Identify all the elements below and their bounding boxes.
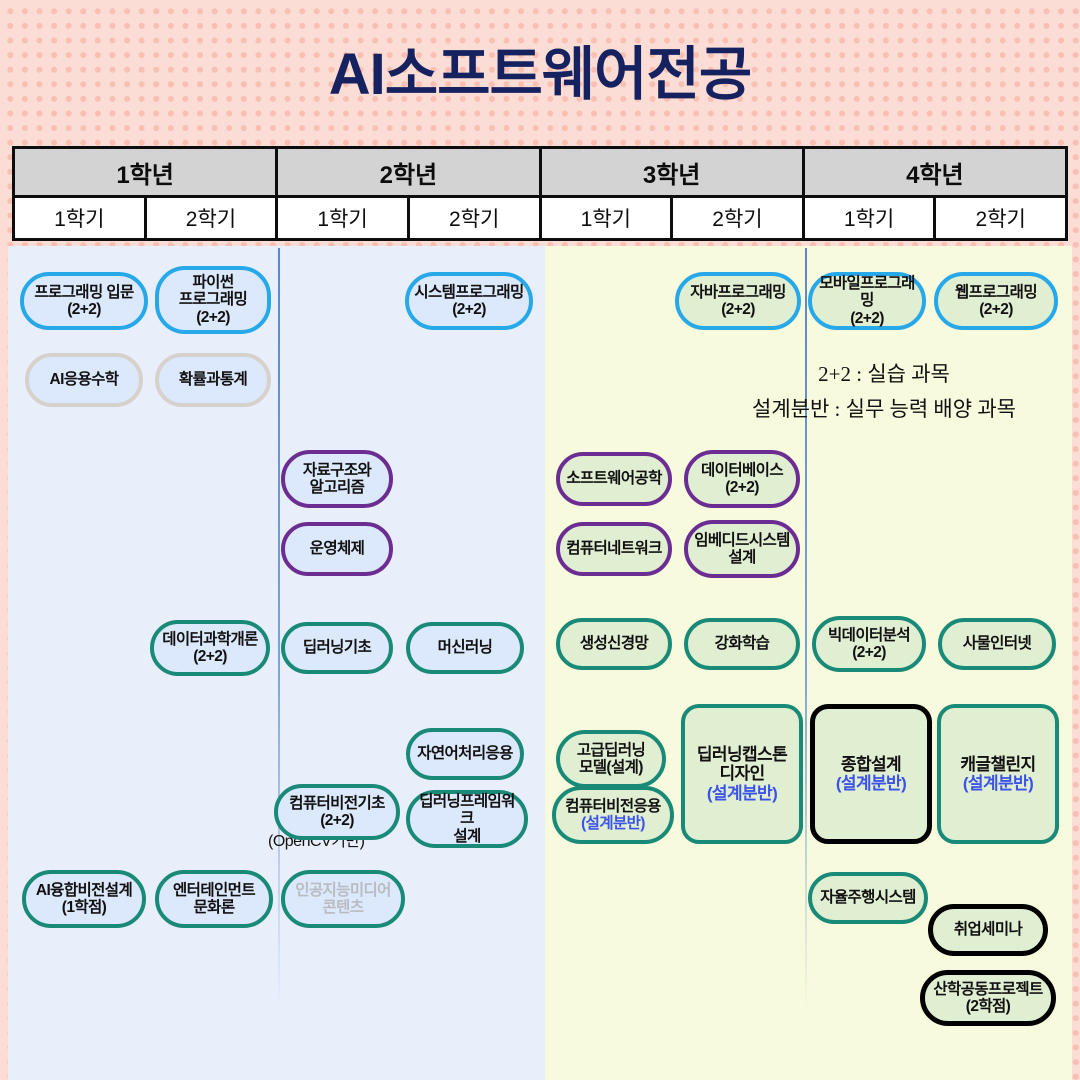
course-label-line: 설계 xyxy=(453,828,480,845)
course-label-line: 시스템프로그래밍 xyxy=(414,284,523,301)
semester-header-1-1: 1학기 xyxy=(12,195,147,241)
course-node[interactable]: 엔터테인먼트문화론 xyxy=(155,870,273,928)
course-node[interactable]: 웹프로그래밍(2+2) xyxy=(934,272,1058,330)
course-node[interactable]: 임베디드시스템설계 xyxy=(684,520,800,578)
course-label-line: 컴퓨터비전기초 xyxy=(289,795,385,812)
semester-header-1-2: 2학기 xyxy=(144,195,279,241)
course-label-line: (설계분반) xyxy=(581,815,645,832)
course-node[interactable]: 컴퓨터비전기초(2+2) xyxy=(274,784,400,840)
course-label-line: 디자인 xyxy=(719,764,764,783)
course-node[interactable]: 생성신경망 xyxy=(556,618,672,670)
course-label-line: (설계분반) xyxy=(963,774,1033,793)
semester-header-3-2: 2학기 xyxy=(670,195,805,241)
semester-header-3-1: 1학기 xyxy=(539,195,674,241)
course-label-line: 캐글챌린지 xyxy=(960,755,1035,774)
course-label-line: 딥러닝프레임워크 xyxy=(414,793,520,828)
year-header-row: 1학년 2학년 3학년 4학년 xyxy=(12,146,1068,198)
course-node[interactable]: 취업세미나 xyxy=(928,904,1048,956)
year-header-3: 3학년 xyxy=(539,146,805,198)
page-title: AI소프트웨어전공 xyxy=(0,46,1080,104)
course-label-line: (2+2) xyxy=(196,309,230,326)
course-label-line: 설계 xyxy=(728,549,755,566)
course-label-line: AI응용수학 xyxy=(50,371,119,388)
course-node[interactable]: 소프트웨어공학 xyxy=(556,452,672,506)
course-label-line: 파이썬 xyxy=(193,274,234,291)
course-label-line: 컴퓨터비전응용 xyxy=(565,798,661,815)
legend-line-practice: 2+2 : 실습 과목 xyxy=(818,358,950,388)
course-node[interactable]: 캐글챌린지(설계분반) xyxy=(937,704,1059,844)
divider-year3-year4 xyxy=(805,248,807,1010)
course-label-line: (2+2) xyxy=(67,301,101,318)
course-node[interactable]: 프로그래밍 입문(2+2) xyxy=(20,272,148,330)
course-label-line: 알고리즘 xyxy=(310,479,365,496)
course-label-line: 자율주행시스템 xyxy=(820,889,916,906)
course-label-line: AI융합비전설계 xyxy=(36,882,132,899)
course-label-line: 데이터과학개론 xyxy=(162,631,258,648)
semester-header-2-2: 2학기 xyxy=(407,195,542,241)
course-label-line: 딥러닝기초 xyxy=(303,639,371,656)
course-label-line: (2+2) xyxy=(852,644,886,661)
course-label-line: (2+2) xyxy=(193,648,227,665)
course-label-line: 자연어처리응용 xyxy=(417,745,513,762)
course-label-line: 확률과통계 xyxy=(179,371,247,388)
course-label-line: 모델(설계) xyxy=(579,759,643,776)
course-label-line: (2+2) xyxy=(452,301,486,318)
course-label-line: 프로그래밍 입문 xyxy=(34,284,133,301)
course-label-line: 취업세미나 xyxy=(954,921,1022,938)
course-node[interactable]: 딥러닝프레임워크설계 xyxy=(406,790,528,848)
curriculum-roadmap: AI소프트웨어전공 1학년 2학년 3학년 4학년 1학기 2학기 1학기 2학… xyxy=(0,0,1080,1080)
course-node[interactable]: 머신러닝 xyxy=(406,622,524,674)
course-label-line: 운영체제 xyxy=(310,540,365,557)
course-label-line: 문화론 xyxy=(194,899,235,916)
course-label-line: (1학점) xyxy=(62,899,106,916)
course-node[interactable]: 딥러닝기초 xyxy=(281,622,393,674)
course-node[interactable]: 자연어처리응용 xyxy=(406,728,524,780)
year-header-2: 2학년 xyxy=(275,146,541,198)
course-label-line: 인공지능미디어 xyxy=(295,882,391,899)
course-node[interactable]: 종합설계(설계분반) xyxy=(810,704,932,844)
course-label-line: 고급딥러닝 xyxy=(577,742,645,759)
course-label-line: 사물인터넷 xyxy=(963,635,1031,652)
course-label-line: 생성신경망 xyxy=(580,635,648,652)
course-label-line: 딥러닝캡스톤 xyxy=(697,745,787,764)
course-label-line: (2+2) xyxy=(725,479,759,496)
course-node[interactable]: 자율주행시스템 xyxy=(808,872,928,924)
course-label-line: 자바프로그래밍 xyxy=(690,284,786,301)
course-label-line: (설계분반) xyxy=(707,784,777,803)
course-node[interactable]: 모바일프로그래밍(2+2) xyxy=(808,272,926,330)
course-label-line: 웹프로그래밍 xyxy=(955,284,1037,301)
course-label-line: (2+2) xyxy=(320,812,354,829)
course-node[interactable]: 사물인터넷 xyxy=(938,618,1056,670)
course-node[interactable]: 컴퓨터비전응용(설계분반) xyxy=(552,786,674,844)
course-label-line: (2학점) xyxy=(966,998,1010,1015)
course-label-line: (설계분반) xyxy=(836,774,906,793)
course-node[interactable]: AI융합비전설계(1학점) xyxy=(22,870,146,928)
course-node[interactable]: 운영체제 xyxy=(281,522,393,576)
semester-header-row: 1학기 2학기 1학기 2학기 1학기 2학기 1학기 2학기 xyxy=(12,198,1068,241)
course-label-line: (2+2) xyxy=(850,310,884,327)
semester-header-2-1: 1학기 xyxy=(275,195,410,241)
course-label-line: (2+2) xyxy=(721,301,755,318)
course-node[interactable]: 인공지능미디어콘텐츠 xyxy=(281,870,405,928)
course-node[interactable]: 데이터베이스(2+2) xyxy=(684,450,800,508)
course-node[interactable]: 자료구조와알고리즘 xyxy=(281,450,393,508)
course-node[interactable]: 시스템프로그래밍(2+2) xyxy=(405,272,533,330)
course-label-line: 머신러닝 xyxy=(438,639,493,656)
divider-year1-year2 xyxy=(278,248,280,1008)
course-label-line: 산학공동프로젝트 xyxy=(933,981,1042,998)
course-label-line: 소프트웨어공학 xyxy=(566,470,662,487)
course-node[interactable]: 파이썬프로그래밍(2+2) xyxy=(155,266,271,334)
course-label-line: (2+2) xyxy=(979,301,1013,318)
course-label-line: 종합설계 xyxy=(841,755,901,774)
course-label-line: 모바일프로그래밍 xyxy=(816,275,918,310)
course-label-line: 데이터베이스 xyxy=(701,462,783,479)
legend-line-design: 설계분반 : 실무 능력 배양 과목 xyxy=(752,393,1016,423)
course-node[interactable]: 강화학습 xyxy=(684,618,800,670)
course-node[interactable]: 산학공동프로젝트(2학점) xyxy=(920,970,1056,1026)
course-node[interactable]: 자바프로그래밍(2+2) xyxy=(675,272,801,330)
course-label-line: 빅데이터분석 xyxy=(828,627,910,644)
course-node[interactable]: 딥러닝캡스톤디자인(설계분반) xyxy=(681,704,803,844)
course-node[interactable]: 데이터과학개론(2+2) xyxy=(150,620,270,676)
header-grid: 1학년 2학년 3학년 4학년 1학기 2학기 1학기 2학기 1학기 2학기 … xyxy=(12,146,1068,241)
year-header-1: 1학년 xyxy=(12,146,278,198)
course-label-line: 프로그래밍 xyxy=(179,291,247,308)
course-label-line: 강화학습 xyxy=(715,635,770,652)
semester-header-4-2: 2학기 xyxy=(933,195,1068,241)
course-label-line: 자료구조와 xyxy=(303,462,371,479)
course-node[interactable]: AI응용수학 xyxy=(25,353,143,407)
semester-header-4-1: 1학기 xyxy=(802,195,937,241)
course-label-line: 콘텐츠 xyxy=(323,899,364,916)
course-node[interactable]: 고급딥러닝모델(설계) xyxy=(556,730,666,788)
course-label-line: 엔터테인먼트 xyxy=(173,882,255,899)
course-label-line: 임베디드시스템 xyxy=(694,532,790,549)
course-label-line: 컴퓨터네트워크 xyxy=(566,540,662,557)
course-node[interactable]: 확률과통계 xyxy=(155,353,271,407)
course-node[interactable]: 빅데이터분석(2+2) xyxy=(812,616,926,672)
course-node[interactable]: 컴퓨터네트워크 xyxy=(556,522,672,576)
year-header-4: 4학년 xyxy=(802,146,1068,198)
